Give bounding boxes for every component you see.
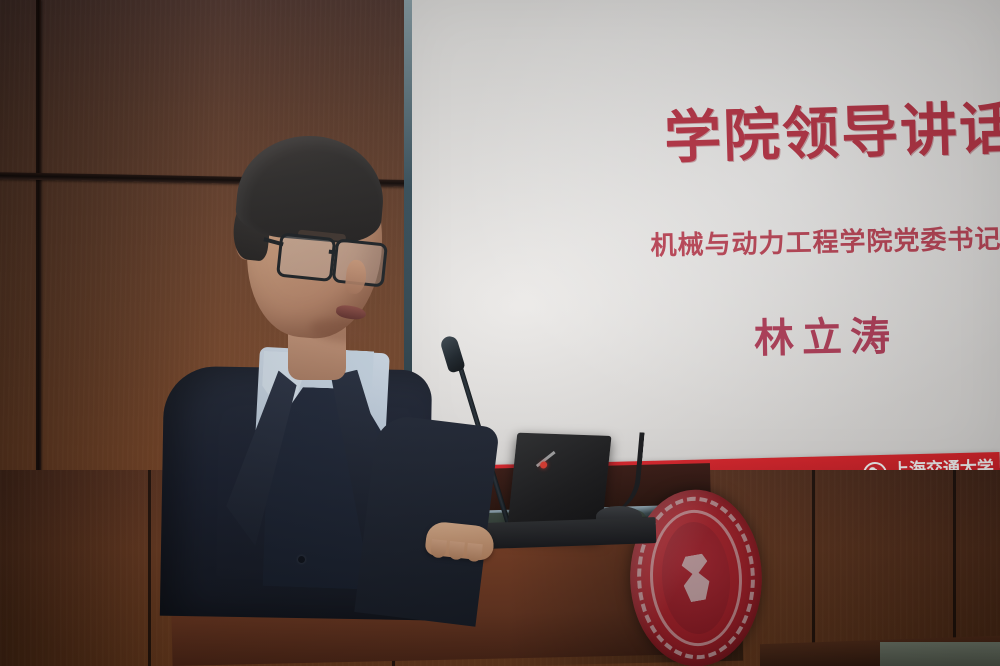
thinkpad-red-dot-icon (540, 461, 548, 468)
hair (234, 130, 389, 246)
finger-3 (466, 543, 483, 562)
lens-left (276, 232, 336, 282)
glasses-bridge (329, 250, 337, 254)
speaker-arm (354, 413, 499, 626)
presentation-slide: 学院领导讲话 机械与动力工程学院党委书记 林立涛 (412, 0, 1000, 468)
panel-seam-3 (812, 470, 815, 666)
slide-title: 学院领导讲话 (663, 84, 985, 175)
finger-2 (448, 541, 465, 560)
slide-subtitle: 机械与动力工程学院党委书记 (648, 219, 1000, 263)
floor-strip (880, 642, 1000, 666)
finger-1 (430, 539, 447, 558)
panel-seam-1 (148, 470, 151, 666)
projection-screen: 学院领导讲话 机械与动力工程学院党委书记 林立涛 (412, 0, 1000, 468)
presentation-photo: 学院领导讲话 机械与动力工程学院党委书记 林立涛 上海交通大学 SHANGHAI… (0, 0, 1000, 666)
slide-speaker-name: 林立涛 (704, 303, 949, 365)
jacket-button (298, 556, 305, 563)
speaker-person (170, 120, 500, 590)
